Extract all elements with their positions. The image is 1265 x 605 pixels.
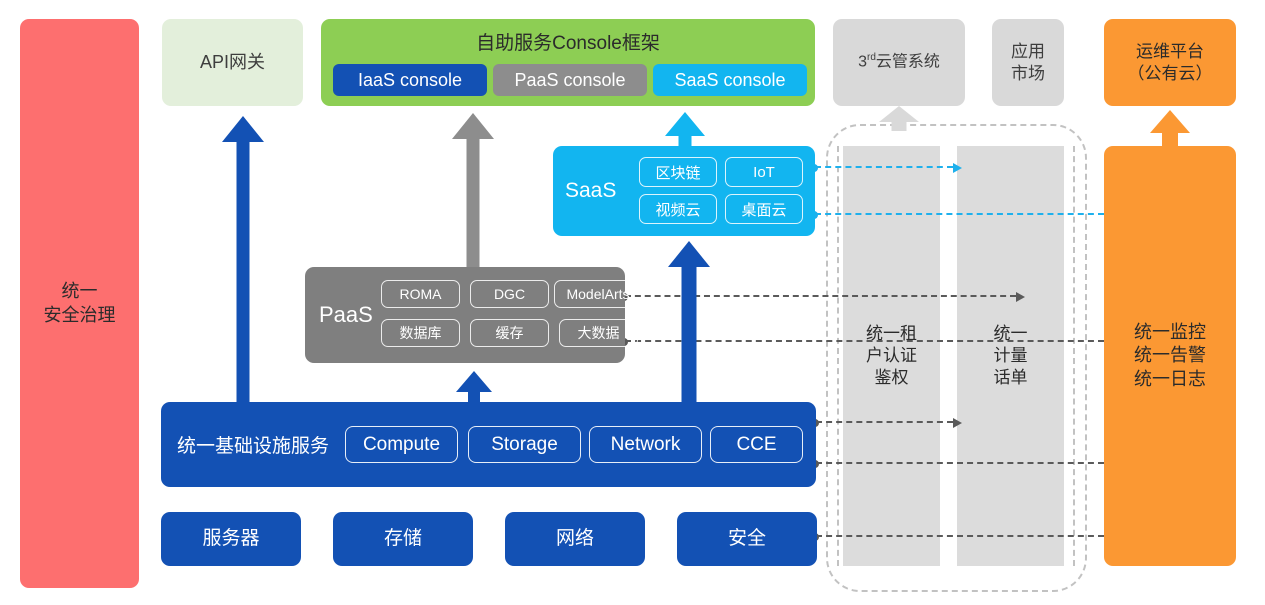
paas-tag-database[interactable]: 数据库 xyxy=(381,319,460,347)
dashed-link-infra-to-metering xyxy=(816,421,953,423)
iaas-console-chip[interactable]: IaaS console xyxy=(333,64,487,96)
third-party-cloud-label: 3rd云管系统 xyxy=(858,52,940,73)
saas-tag-blockchain[interactable]: 区块链 xyxy=(639,157,717,187)
container-left-inner-dash xyxy=(837,146,839,566)
unified-infrastructure-bar: 统一基础设施服务 Compute Storage Network CCE xyxy=(161,402,816,487)
saas-console-chip[interactable]: SaaS console xyxy=(653,64,807,96)
paas-tag-cache-label: 缓存 xyxy=(496,323,524,343)
unified-tenant-auth-pillar: 统一租 户认证 鉴权 xyxy=(843,146,940,566)
paas-tag-bigdata-label: 大数据 xyxy=(578,323,620,343)
saas-tag-iot-label: IoT xyxy=(753,164,775,181)
saas-tag-blockchain-label: 区块链 xyxy=(655,162,700,183)
console-frame-title: 自助服务Console框架 xyxy=(321,28,815,55)
dashed-link-saas-to-ops-monitor xyxy=(815,213,1104,215)
resource-box-server-label: 服务器 xyxy=(202,527,259,551)
saas-tag-desktop-cloud-label: 桌面云 xyxy=(741,199,786,220)
infra-tag-storage[interactable]: Storage xyxy=(468,426,581,463)
paas-label: PaaS xyxy=(319,267,373,363)
arrow-paas-to-paas-console-icon xyxy=(452,113,494,271)
resource-box-storage-label: 存储 xyxy=(384,527,422,551)
paas-block: PaaS ROMA DGC ModelArts 数据库 缓存 大数据 xyxy=(305,267,625,363)
saas-tag-video-cloud-label: 视频云 xyxy=(655,199,700,220)
link-arrow-tip xyxy=(953,163,962,173)
dashed-link-resources-to-ops-monitor xyxy=(816,535,1104,537)
resource-box-storage: 存储 xyxy=(333,512,473,566)
paas-tag-roma[interactable]: ROMA xyxy=(381,280,460,308)
paas-tag-modelarts[interactable]: ModelArts xyxy=(554,280,642,308)
container-right-inner-dash xyxy=(1073,146,1075,566)
paas-tag-dgc-label: DGC xyxy=(494,286,525,302)
unified-infrastructure-label: 统一基础设施服务 xyxy=(177,402,329,487)
saas-tag-desktop-cloud[interactable]: 桌面云 xyxy=(725,194,803,224)
paas-tag-dgc[interactable]: DGC xyxy=(470,280,549,308)
dashed-link-infra-to-ops-monitor xyxy=(816,462,1104,464)
paas-tag-database-label: 数据库 xyxy=(400,323,442,343)
api-gateway-label: API网关 xyxy=(200,51,265,74)
unified-security-governance-label: 统一 安全治理 xyxy=(44,280,116,326)
saas-console-label: SaaS console xyxy=(674,70,785,91)
app-market-box: 应用 市场 xyxy=(992,19,1064,106)
paas-tag-bigdata[interactable]: 大数据 xyxy=(559,319,638,347)
self-service-console-frame: 自助服务Console框架 IaaS console PaaS console … xyxy=(321,19,815,106)
ops-monitor-label: 统一监控 统一告警 统一日志 xyxy=(1134,321,1206,390)
dashed-link-saas-to-tenant-auth xyxy=(815,166,953,168)
unified-security-governance-pillar: 统一 安全治理 xyxy=(20,19,139,588)
saas-label: SaaS xyxy=(565,146,616,236)
saas-tag-iot[interactable]: IoT xyxy=(725,157,803,187)
infra-tag-cce[interactable]: CCE xyxy=(710,426,803,463)
architecture-diagram: 统一 安全治理 API网关 自助服务Console框架 IaaS console… xyxy=(0,0,1265,605)
paas-tag-roma-label: ROMA xyxy=(400,286,442,302)
ops-platform-label: 运维平台 （公有云） xyxy=(1128,41,1213,85)
infra-tag-cce-label: CCE xyxy=(736,434,776,456)
arrow-shared-services-to-third-cloud-icon xyxy=(879,106,919,131)
ops-monitor-pillar: 统一监控 统一告警 统一日志 xyxy=(1104,146,1236,566)
arrow-infra-to-saas-icon xyxy=(668,241,710,406)
api-gateway-box: API网关 xyxy=(162,19,303,106)
paas-tag-modelarts-label: ModelArts xyxy=(566,286,629,302)
arrow-ops-monitor-to-ops-platform-icon xyxy=(1150,110,1190,148)
app-market-label: 应用 市场 xyxy=(1011,41,1045,85)
unified-metering-label: 统一 计量 话单 xyxy=(994,323,1028,389)
iaas-console-label: IaaS console xyxy=(358,70,462,91)
resource-box-server: 服务器 xyxy=(161,512,301,566)
infra-tag-compute[interactable]: Compute xyxy=(345,426,458,463)
paas-console-label: PaaS console xyxy=(514,70,625,91)
infra-tag-compute-label: Compute xyxy=(363,434,440,456)
third-party-cloud-management-box: 3rd云管系统 xyxy=(833,19,965,106)
paas-tag-cache[interactable]: 缓存 xyxy=(470,319,549,347)
link-arrow-tip xyxy=(953,418,962,428)
resource-box-security-label: 安全 xyxy=(728,527,766,551)
infra-tag-storage-label: Storage xyxy=(491,434,558,456)
infra-tag-network[interactable]: Network xyxy=(589,426,702,463)
saas-block: SaaS 区块链 IoT 视频云 桌面云 xyxy=(553,146,815,236)
link-arrow-tip xyxy=(1016,292,1025,302)
paas-console-chip[interactable]: PaaS console xyxy=(493,64,647,96)
arrow-infra-to-paas-icon xyxy=(456,371,492,405)
ops-platform-box: 运维平台 （公有云） xyxy=(1104,19,1236,106)
unified-metering-pillar: 统一 计量 话单 xyxy=(957,146,1064,566)
resource-box-network-label: 网络 xyxy=(556,527,594,551)
resource-box-security: 安全 xyxy=(677,512,817,566)
arrow-infra-to-api-gateway-icon xyxy=(222,116,264,404)
unified-tenant-auth-label: 统一租 户认证 鉴权 xyxy=(866,323,917,389)
saas-tag-video-cloud[interactable]: 视频云 xyxy=(639,194,717,224)
infra-tag-network-label: Network xyxy=(611,434,681,456)
resource-box-network: 网络 xyxy=(505,512,645,566)
